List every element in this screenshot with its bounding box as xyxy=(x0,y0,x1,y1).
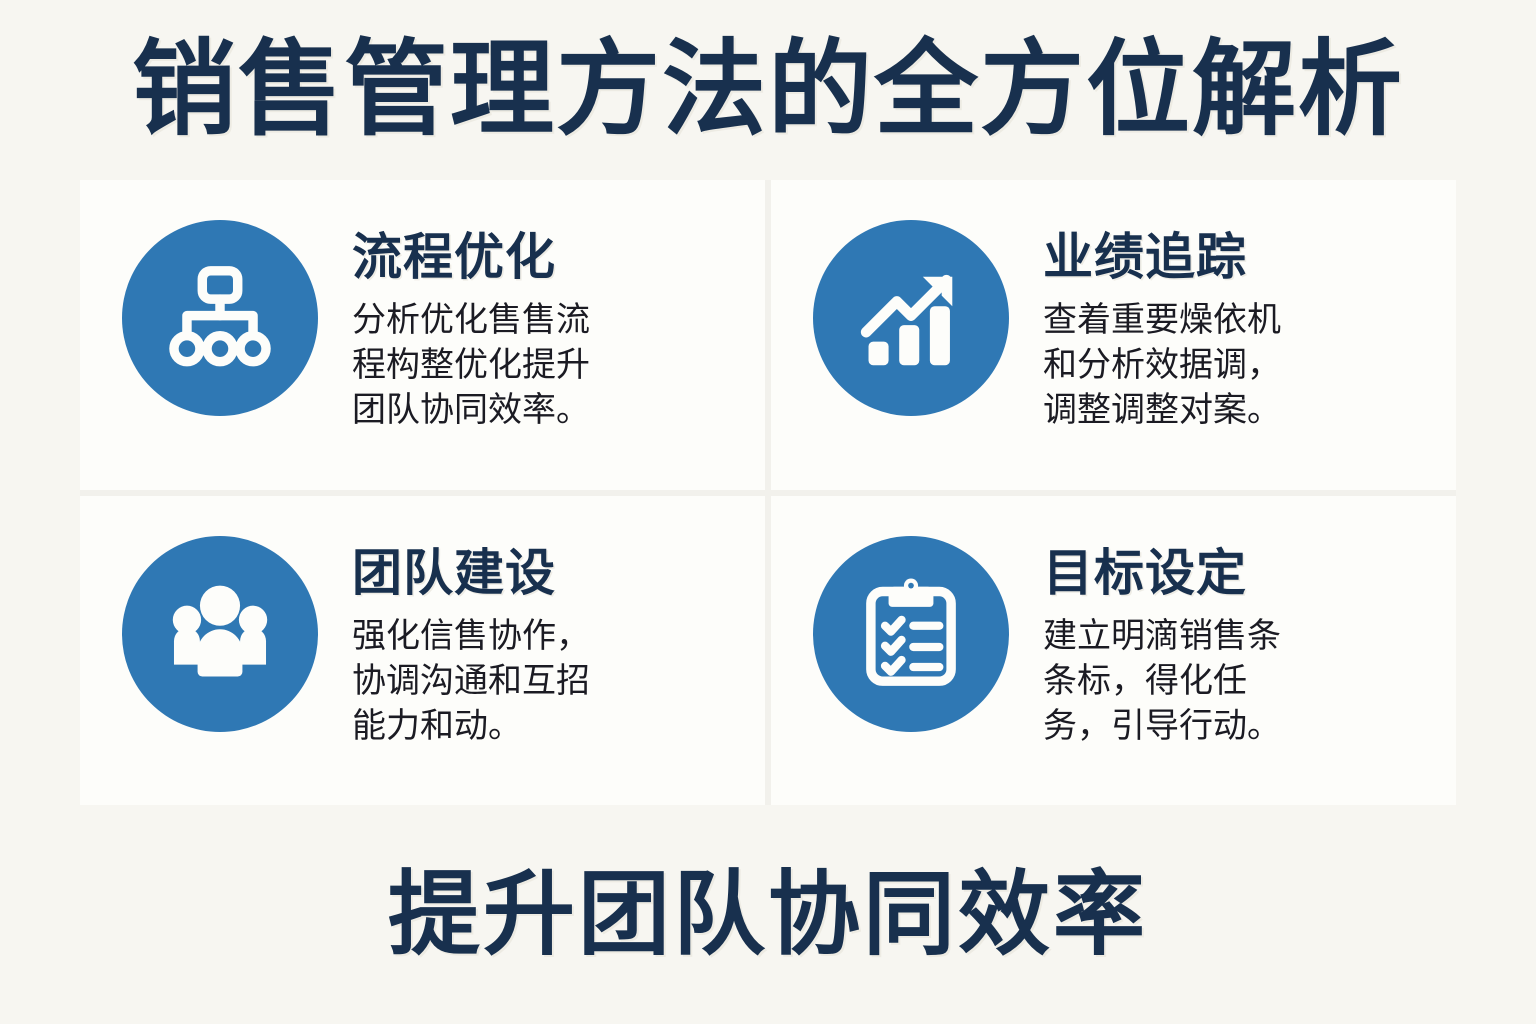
card-body: 分析优化售售流程构整优化提升团队协同效率。 xyxy=(352,298,607,434)
card-team-building[interactable]: 团队建设 强化信售协作，协调沟通和互招能力和动。 xyxy=(80,496,765,806)
card-title: 业绩追踪 xyxy=(1043,230,1426,284)
card-text-block: 流程优化 分析优化售售流程构整优化提升团队协同效率。 xyxy=(352,206,735,434)
hierarchy-icon xyxy=(122,220,318,416)
page-title: 销售管理方法的全方位解析 xyxy=(132,38,1404,142)
card-body: 强化信售协作，协调沟通和互招能力和动。 xyxy=(352,614,607,750)
card-process-optimization[interactable]: 流程优化 分析优化售售流程构整优化提升团队协同效率。 xyxy=(80,180,765,490)
card-title: 团队建设 xyxy=(352,546,735,600)
card-grid: 流程优化 分析优化售售流程构整优化提升团队协同效率。 xyxy=(80,180,1456,805)
infographic-poster: 销售管理方法的全方位解析 xyxy=(0,0,1536,1024)
title-section: 销售管理方法的全方位解析 xyxy=(0,0,1536,180)
card-text-block: 目标设定 建立明滴销售条条标，得化任务，引导行动。 xyxy=(1043,522,1426,750)
card-performance-tracking[interactable]: 业绩追踪 查着重要燥依机和分析效据调，调整调整对案。 xyxy=(771,180,1456,490)
footer-tagline: 提升团队协同效率 xyxy=(388,869,1148,961)
card-text-block: 业绩追踪 查着重要燥依机和分析效据调，调整调整对案。 xyxy=(1043,206,1426,434)
card-text-block: 团队建设 强化信售协作，协调沟通和互招能力和动。 xyxy=(352,522,735,750)
team-people-icon xyxy=(122,536,318,732)
growth-chart-icon xyxy=(813,220,1009,416)
footer-section: 提升团队协同效率 xyxy=(0,805,1536,1024)
card-goal-setting[interactable]: 目标设定 建立明滴销售条条标，得化任务，引导行动。 xyxy=(771,496,1456,806)
card-body: 查着重要燥依机和分析效据调，调整调整对案。 xyxy=(1043,298,1311,434)
card-title: 流程优化 xyxy=(352,230,735,284)
card-body: 建立明滴销售条条标，得化任务，引导行动。 xyxy=(1043,614,1311,750)
card-title: 目标设定 xyxy=(1043,546,1426,600)
clipboard-checklist-icon xyxy=(813,536,1009,732)
